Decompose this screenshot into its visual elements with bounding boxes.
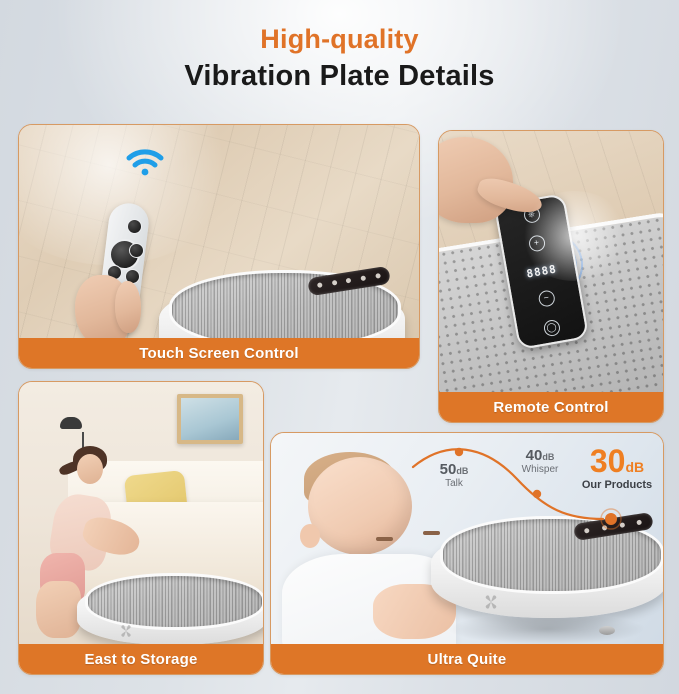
control-led	[332, 280, 338, 286]
baby-eye	[376, 537, 393, 541]
vibration-plate	[431, 511, 664, 627]
brand-logo-icon	[119, 624, 135, 640]
page-title: High-quality Vibration Plate Details	[0, 22, 679, 95]
control-led	[317, 283, 323, 289]
control-led	[637, 520, 643, 526]
baby-ear	[300, 524, 320, 548]
mode-button-icon[interactable]: ◯	[542, 319, 561, 338]
remote-right-button[interactable]	[129, 243, 144, 258]
leg	[36, 581, 81, 638]
caption-ultra-quite: Ultra Quite	[270, 644, 664, 675]
scene-east-to-storage	[19, 382, 263, 674]
plate-foot	[599, 626, 615, 635]
wifi-signal-icon	[125, 147, 165, 182]
infographic-page: High-quality Vibration Plate Details	[0, 0, 679, 694]
brand-logo-icon	[483, 594, 499, 610]
control-led	[346, 278, 352, 284]
caption-east-to-storage: East to Storage	[18, 644, 264, 675]
plate-top-surface	[85, 573, 264, 630]
title-main-line: Vibration Plate Details	[0, 57, 679, 95]
control-led	[361, 276, 367, 282]
head	[77, 454, 103, 484]
title-accent-line: High-quality	[0, 22, 679, 56]
control-led	[602, 525, 608, 531]
baby-head	[308, 457, 412, 555]
minus-button-icon[interactable]: −	[537, 290, 556, 309]
caption-remote-control: Remote Control	[438, 392, 664, 423]
thumb	[115, 281, 141, 333]
panel-east-to-storage[interactable]: East to Storage	[18, 381, 264, 675]
panel-touch-screen-control[interactable]: Touch Screen Control	[18, 124, 420, 369]
control-led	[619, 522, 625, 528]
remote-power-button[interactable]	[127, 219, 142, 234]
panel-ultra-quite[interactable]: 50dB Talk 40dB Whisper 30dB Our Products…	[270, 432, 664, 675]
lcd-display: 8888	[526, 262, 558, 280]
control-led	[584, 528, 590, 534]
caption-touch-screen-control: Touch Screen Control	[18, 338, 420, 369]
panel-remote-control[interactable]: ⎈ + 8888 − ◯ Remote Control	[438, 130, 664, 423]
scene-remote-control: ⎈ + 8888 − ◯	[439, 131, 663, 422]
control-led	[376, 273, 382, 279]
floor-lamp-shade	[60, 417, 82, 429]
scene-touch-screen-control	[19, 125, 419, 368]
plus-button-icon[interactable]: +	[528, 235, 547, 254]
scene-ultra-quite: 50dB Talk 40dB Whisper 30dB Our Products	[271, 433, 663, 674]
wall-painting	[177, 394, 243, 444]
vibration-plate-stored	[77, 570, 264, 652]
